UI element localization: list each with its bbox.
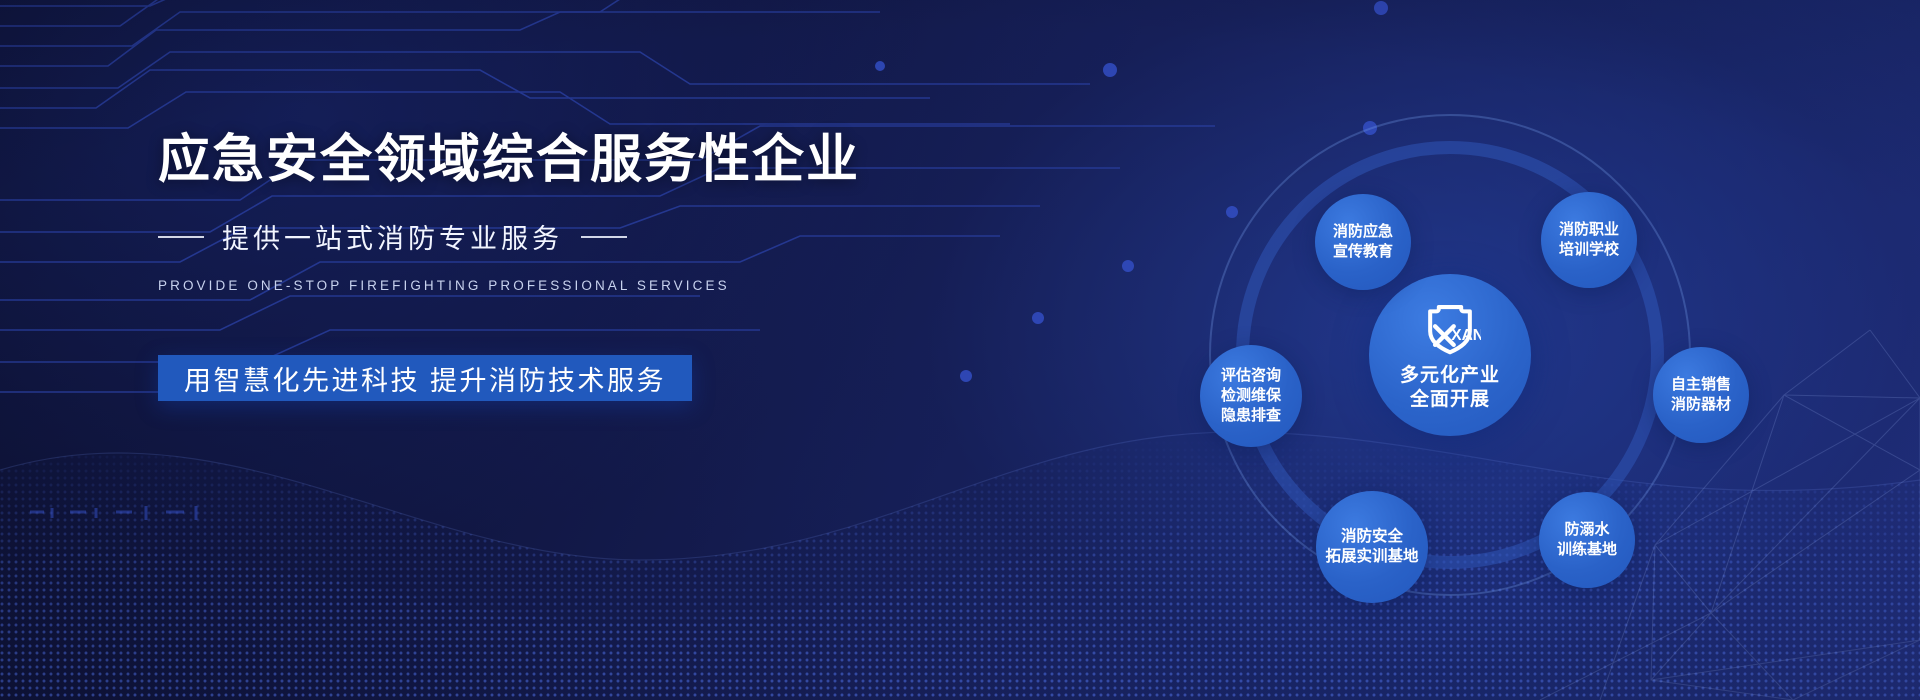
node-label-line2: 训练基地: [1557, 540, 1617, 560]
center-label-line1: 多元化产业: [1400, 364, 1500, 387]
node-label-line2: 培训学校: [1559, 240, 1619, 260]
hero-banner: 应急安全领域综合服务性企业 提供一站式消防专业服务 PROVIDE ONE-ST…: [0, 0, 1920, 700]
node-label-line2: 消防器材: [1671, 395, 1731, 415]
cta-banner[interactable]: 用智慧化先进科技 提升消防技术服务: [158, 355, 692, 401]
page-subtitle: 提供一站式消防专业服务: [222, 217, 563, 256]
shield-icon: XAN: [1419, 299, 1481, 361]
node-label-line2: 宣传教育: [1333, 242, 1393, 262]
diagram-node-fire-emergency-education[interactable]: 消防应急 宣传教育: [1315, 194, 1411, 290]
diagram-node-assessment-inspection[interactable]: 评估咨询 检测维保 隐患排查: [1200, 345, 1302, 447]
english-tagline: PROVIDE ONE-STOP FIREFIGHTING PROFESSION…: [158, 278, 878, 293]
svg-text:XAN: XAN: [1451, 327, 1481, 344]
center-node-labels: 多元化产业 全面开展: [1400, 364, 1500, 410]
diagram-node-safety-training-base[interactable]: 消防安全 拓展实训基地: [1316, 491, 1428, 603]
node-label-line2: 拓展实训基地: [1325, 547, 1418, 567]
diagram-node-equipment-sales[interactable]: 自主销售 消防器材: [1653, 347, 1749, 443]
cta-label: 用智慧化先进科技 提升消防技术服务: [184, 359, 666, 398]
diagram-node-fire-vocational-school[interactable]: 消防职业 培训学校: [1541, 192, 1637, 288]
services-circle-diagram: XAN 多元化产业 全面开展 消防应急 宣传教育 消防职业 培训学校 评估咨询 …: [1130, 55, 1770, 655]
node-label-line1: 自主销售: [1671, 375, 1731, 395]
node-label-line3: 隐患排查: [1221, 406, 1281, 426]
node-label-line1: 消防安全: [1341, 527, 1403, 547]
center-label-line2: 全面开展: [1400, 388, 1500, 411]
diagram-node-anti-drowning-base[interactable]: 防溺水 训练基地: [1539, 492, 1635, 588]
node-label-line1: 消防职业: [1559, 220, 1619, 240]
subtitle-rule-right: [581, 236, 627, 238]
subtitle-rule-left: [158, 236, 204, 238]
node-label-line2: 检测维保: [1221, 386, 1281, 406]
diagram-center-node[interactable]: XAN 多元化产业 全面开展: [1369, 274, 1531, 436]
node-label-line1: 消防应急: [1333, 222, 1393, 242]
subtitle-row: 提供一站式消防专业服务: [158, 217, 878, 256]
node-label-line1: 防溺水: [1564, 520, 1609, 540]
node-label-line1: 评估咨询: [1221, 366, 1281, 386]
page-title: 应急安全领域综合服务性企业: [158, 130, 878, 191]
hero-text-block: 应急安全领域综合服务性企业 提供一站式消防专业服务 PROVIDE ONE-ST…: [158, 130, 878, 401]
